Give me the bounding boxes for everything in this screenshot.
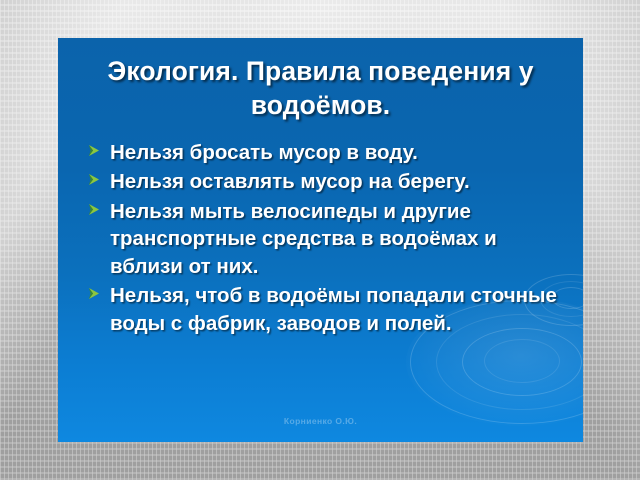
slide-title: Экология. Правила поведения у водоёмов. [78,55,563,122]
presentation-slide: Экология. Правила поведения у водоёмов. … [58,38,583,442]
slide-bullet-list: Нельзя бросать мусор в воду. Нельзя оста… [88,139,558,339]
list-item: Нельзя бросать мусор в воду. [88,139,558,166]
list-item: Нельзя мыть велосипеды и другие транспор… [88,198,558,280]
list-item-label: Нельзя бросать мусор в воду. [110,139,558,166]
green-arrow-bullet-icon [88,168,110,186]
list-item-label: Нельзя оставлять мусор на берегу. [110,168,558,195]
green-arrow-bullet-icon [88,198,110,216]
list-item: Нельзя, чтоб в водоёмы попадали сточные … [88,282,558,337]
water-ripple-ring-core [484,339,560,383]
list-item: Нельзя оставлять мусор на берегу. [88,168,558,195]
green-arrow-bullet-icon [88,139,110,157]
list-item-label: Нельзя, чтоб в водоёмы попадали сточные … [110,282,558,337]
list-item-label: Нельзя мыть велосипеды и другие транспор… [110,198,558,280]
author-watermark: Корниенко О.Ю. [58,416,583,426]
green-arrow-bullet-icon [88,282,110,300]
